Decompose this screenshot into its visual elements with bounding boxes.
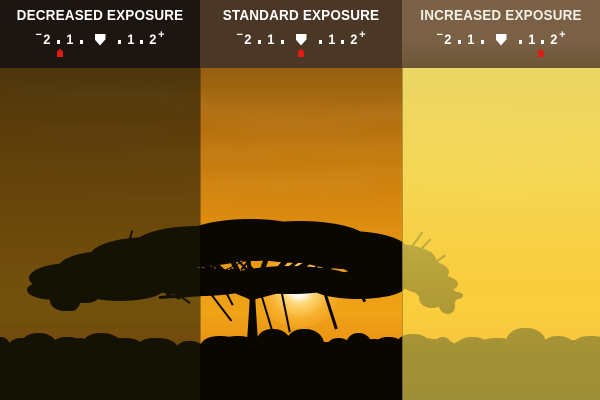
exposure-center-marker-icon: [496, 34, 507, 46]
exposure-tick-icon: [57, 40, 60, 44]
horizon-shrub-tall: [346, 333, 372, 360]
horizon-shrub-tall: [561, 340, 594, 360]
horizon-shrub-tall: [456, 337, 490, 360]
panel-title-increased: INCREASED EXPOSURE: [409, 8, 593, 24]
tree-foliage-clump: [437, 291, 464, 300]
exposure-tick-icon: [519, 40, 522, 44]
exposure-stop-label: 1: [528, 32, 535, 46]
ground-plane: [200, 356, 402, 400]
exposure-stop-label: 1: [467, 32, 474, 46]
exposure-minus-sign: −: [35, 29, 41, 41]
exposure-tick-icon: [481, 40, 484, 44]
exposure-indicator-marker: [298, 49, 304, 57]
exposure-tick-icon: [140, 40, 143, 44]
exposure-stop-label: 2: [150, 32, 157, 46]
exposure-tick-icon: [319, 40, 322, 44]
exposure-tick-icon: [541, 40, 544, 44]
exposure-indicator-track: [402, 48, 600, 58]
horizon-shrub-tall: [402, 334, 431, 360]
exposure-meter-standard: −2112+: [200, 30, 402, 60]
exposure-scale: −2112+: [200, 30, 402, 47]
exposure-tick-icon: [281, 40, 284, 44]
exposure-tick-icon: [118, 40, 121, 44]
panel-title-decreased: DECREASED EXPOSURE: [7, 8, 193, 24]
exposure-stop-label: 2: [351, 32, 358, 46]
tree-twig: [280, 288, 291, 332]
panel-title-standard: STANDARD EXPOSURE: [207, 8, 395, 24]
exposure-indicator-track: [0, 48, 200, 58]
header-decreased-exposure: DECREASED EXPOSURE −2112+: [0, 0, 200, 68]
exposure-stop-label: 2: [444, 32, 451, 46]
exposure-indicator-marker: [538, 49, 544, 57]
exposure-indicator-track: [200, 48, 402, 58]
exposure-tick-icon: [80, 40, 83, 44]
exposure-stop-label: 2: [43, 32, 50, 46]
exposure-minus-sign: −: [436, 29, 442, 41]
exposure-meter-decreased: −2112+: [0, 30, 200, 60]
exposure-stop-label: 1: [267, 32, 274, 46]
exposure-scale: −2112+: [402, 30, 600, 47]
exposure-plus-sign: +: [158, 29, 164, 41]
ground-plane: [402, 356, 600, 400]
exposure-center-marker-icon: [296, 34, 307, 46]
ground-plane: [0, 356, 200, 400]
header-increased-exposure: INCREASED EXPOSURE −2112+: [402, 0, 600, 68]
horizon-shrub-tall: [236, 339, 269, 360]
exposure-minus-sign: −: [236, 29, 242, 41]
exposure-comparison-image: DECREASED EXPOSURE −2112+ STANDARD EXPOS…: [0, 0, 600, 400]
exposure-meter-increased: −2112+: [402, 30, 600, 60]
exposure-stop-label: 1: [328, 32, 335, 46]
exposure-scale: −2112+: [0, 30, 200, 47]
tree-foliage-clump: [439, 297, 456, 314]
exposure-plus-sign: +: [359, 29, 365, 41]
exposure-plus-sign: +: [559, 29, 565, 41]
exposure-tick-icon: [258, 40, 261, 44]
header-standard-exposure: STANDARD EXPOSURE −2112+: [200, 0, 402, 68]
exposure-center-marker-icon: [95, 34, 106, 46]
exposure-tick-icon: [458, 40, 461, 44]
exposure-stop-label: 1: [66, 32, 73, 46]
exposure-stop-label: 2: [551, 32, 558, 46]
exposure-tick-icon: [341, 40, 344, 44]
exposure-indicator-marker: [57, 49, 63, 57]
exposure-stop-label: 2: [244, 32, 251, 46]
exposure-stop-label: 1: [127, 32, 134, 46]
horizon-shrub-tall: [136, 338, 178, 360]
